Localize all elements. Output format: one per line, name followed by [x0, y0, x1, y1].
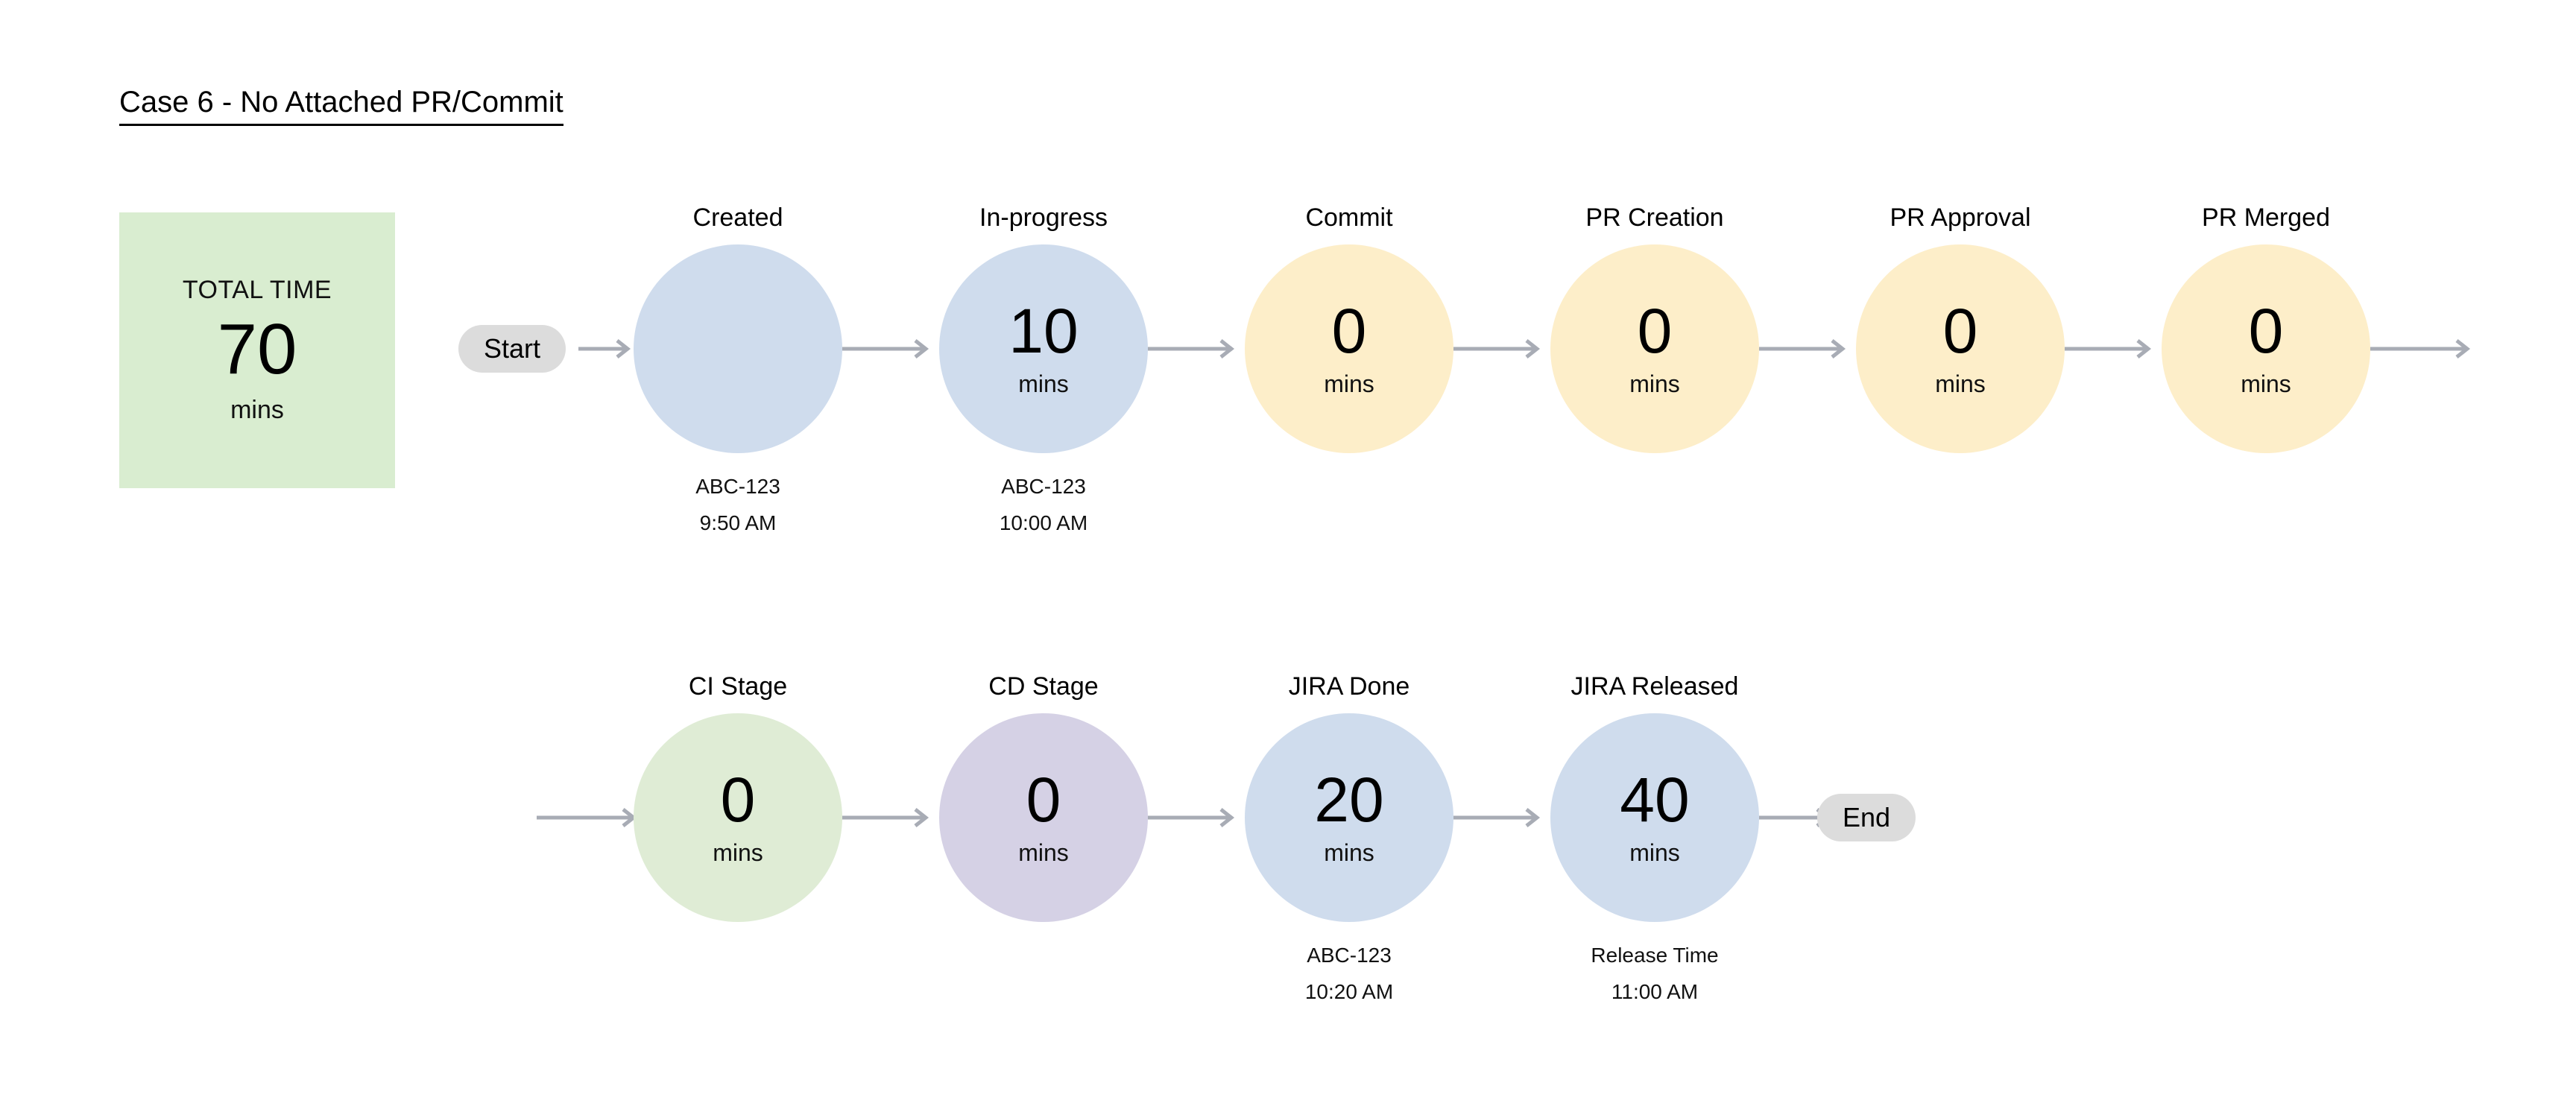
pipeline-node-jira-released[interactable]: JIRA Released 40 mins Release Time 11:00…: [1550, 713, 1759, 922]
node-circle[interactable]: 0 mins: [939, 713, 1148, 922]
node-meta-ticket: ABC-123: [1305, 937, 1393, 973]
pipeline-node-commit[interactable]: Commit 0 mins: [1245, 244, 1453, 453]
node-label: JIRA Released: [1571, 672, 1739, 701]
pipeline-node-in-progress[interactable]: In-progress 10 mins ABC-123 10:00 AM: [939, 244, 1148, 453]
node-meta-ticket: ABC-123: [695, 468, 780, 505]
node-label: JIRA Done: [1289, 672, 1410, 701]
node-circle[interactable]: 0 mins: [1856, 244, 2065, 453]
total-time-value: 70: [218, 314, 297, 385]
row-wrap-out-arrow: [2370, 338, 2475, 360]
connector-arrow: [1453, 338, 1543, 360]
total-time-label: TOTAL TIME: [183, 276, 332, 305]
node-meta: ABC-123 9:50 AM: [695, 468, 780, 541]
node-meta-ticket: Release Time: [1591, 937, 1718, 973]
node-value: 0: [1943, 302, 1978, 361]
node-circle[interactable]: 40 mins: [1550, 713, 1759, 922]
node-value: 20: [1314, 771, 1383, 830]
node-meta-time: 10:00 AM: [1000, 505, 1087, 541]
node-meta-time: 11:00 AM: [1591, 973, 1718, 1010]
row-wrap-in-arrow: [537, 806, 641, 829]
node-label: PR Merged: [2202, 203, 2330, 233]
node-circle[interactable]: 10 mins: [939, 244, 1148, 453]
pipeline-node-created[interactable]: Created ABC-123 9:50 AM: [634, 244, 842, 453]
node-circle[interactable]: 0 mins: [2162, 244, 2370, 453]
node-unit: mins: [1324, 372, 1374, 396]
connector-arrow: [842, 806, 932, 829]
node-circle[interactable]: 0 mins: [634, 713, 842, 922]
node-label: Commit: [1305, 203, 1392, 233]
node-unit: mins: [2241, 372, 2291, 396]
node-value: 0: [1026, 771, 1061, 830]
node-unit: mins: [1629, 372, 1680, 396]
pipeline-node-pr-merged[interactable]: PR Merged 0 mins: [2162, 244, 2370, 453]
node-value: 0: [1638, 302, 1673, 361]
pipeline-node-pr-approval[interactable]: PR Approval 0 mins: [1856, 244, 2065, 453]
node-meta: Release Time 11:00 AM: [1591, 937, 1718, 1010]
node-unit: mins: [1324, 841, 1374, 865]
end-pill[interactable]: End: [1817, 794, 1916, 841]
node-meta: ABC-123 10:00 AM: [1000, 468, 1087, 541]
connector-arrow: [2065, 338, 2154, 360]
node-circle[interactable]: 20 mins: [1245, 713, 1453, 922]
node-value: 40: [1620, 771, 1689, 830]
node-unit: mins: [713, 841, 763, 865]
node-label: PR Creation: [1585, 203, 1723, 233]
node-value: 0: [721, 771, 756, 830]
node-meta-time: 10:20 AM: [1305, 973, 1393, 1010]
node-meta-ticket: ABC-123: [1000, 468, 1087, 505]
node-circle[interactable]: [634, 244, 842, 453]
node-meta: ABC-123 10:20 AM: [1305, 937, 1393, 1010]
node-circle[interactable]: 0 mins: [1550, 244, 1759, 453]
pipeline-node-ci-stage[interactable]: CI Stage 0 mins: [634, 713, 842, 922]
node-label: Created: [693, 203, 783, 233]
page-title: Case 6 - No Attached PR/Commit: [119, 83, 563, 126]
pipeline-node-jira-done[interactable]: JIRA Done 20 mins ABC-123 10:20 AM: [1245, 713, 1453, 922]
node-label: CI Stage: [689, 672, 787, 701]
node-value: 10: [1008, 302, 1078, 361]
connector-arrow: [1148, 338, 1237, 360]
connector-arrow: [1759, 338, 1849, 360]
connector-arrow: [1453, 806, 1543, 829]
node-value: 0: [2249, 302, 2284, 361]
node-unit: mins: [1935, 372, 1986, 396]
node-label: PR Approval: [1890, 203, 2031, 233]
node-unit: mins: [1018, 372, 1069, 396]
node-value: 0: [1332, 302, 1367, 361]
connector-arrow: [1148, 806, 1237, 829]
start-pill[interactable]: Start: [458, 325, 566, 373]
node-label: CD Stage: [988, 672, 1098, 701]
node-unit: mins: [1629, 841, 1680, 865]
node-circle[interactable]: 0 mins: [1245, 244, 1453, 453]
node-meta-time: 9:50 AM: [695, 505, 780, 541]
node-unit: mins: [1018, 841, 1069, 865]
connector-arrow: [578, 338, 634, 360]
total-time-card: TOTAL TIME 70 mins: [119, 212, 395, 488]
connector-arrow: [842, 338, 932, 360]
pipeline-node-pr-creation[interactable]: PR Creation 0 mins: [1550, 244, 1759, 453]
node-label: In-progress: [979, 203, 1108, 233]
total-time-unit: mins: [230, 396, 284, 425]
pipeline-node-cd-stage[interactable]: CD Stage 0 mins: [939, 713, 1148, 922]
